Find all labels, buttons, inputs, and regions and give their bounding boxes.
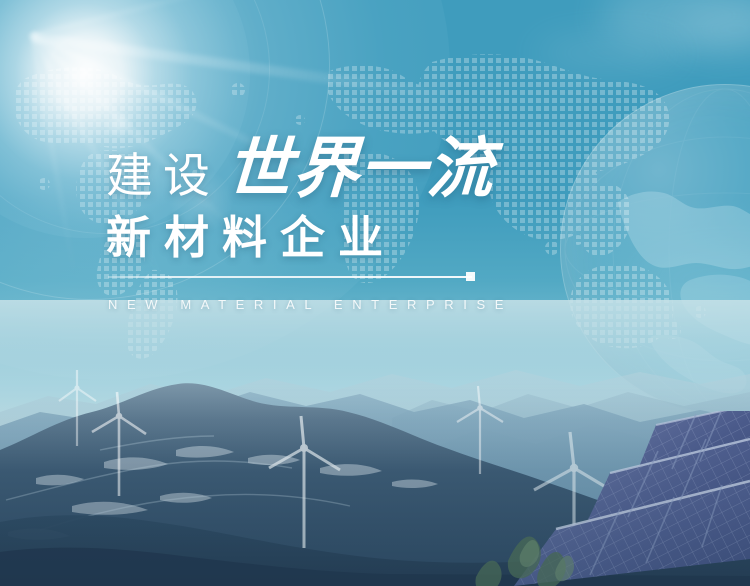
banner-headline: 建设 世界一流	[106, 135, 494, 201]
headline-prefix: 建设	[106, 152, 220, 201]
banner-subline: 新材料企业	[106, 215, 396, 260]
headline-emphasis: 世界一流	[224, 135, 495, 201]
mountain-landscape	[0, 300, 750, 586]
banner-eyebrow: NEW MATERIAL ENTERPRISE	[108, 297, 513, 312]
hero-banner: 建设 世界一流 新材料企业 NEW MATERIAL ENTERPRISE	[0, 0, 750, 586]
